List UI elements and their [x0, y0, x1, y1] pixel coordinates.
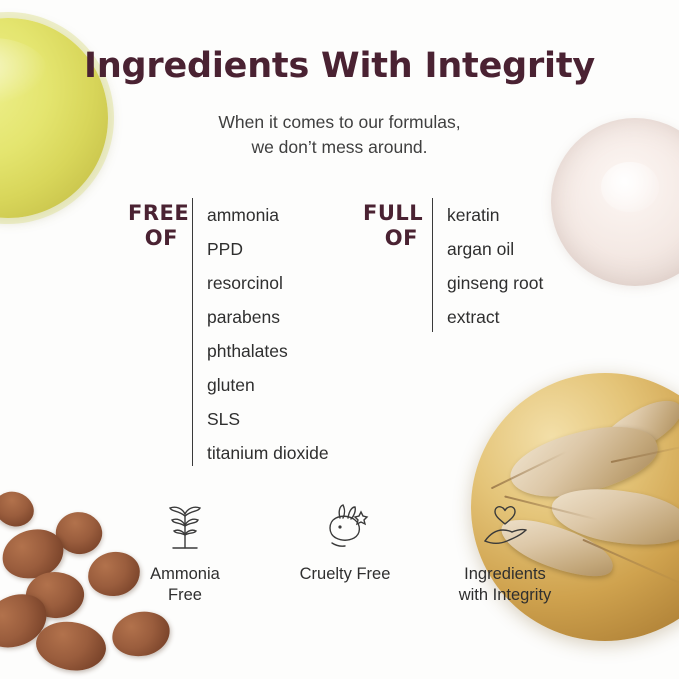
badge-caption-line-2: with Integrity	[430, 585, 580, 606]
plant-sprout-icon	[110, 494, 260, 556]
badge-caption-line-1: Ingredients	[430, 564, 580, 585]
full-of-list: keratin argan oil ginseng root extract	[447, 198, 543, 334]
badge-ingredients-with-integrity: Ingredients with Integrity	[430, 494, 580, 606]
list-item: keratin	[447, 198, 543, 232]
hand-heart-icon	[430, 494, 580, 556]
root-whisker	[611, 445, 679, 463]
free-of-label-line-2: OF	[128, 226, 178, 251]
badge-caption: Cruelty Free	[270, 564, 420, 585]
free-of-column: FREE OF ammonia PPD resorcinol parabens …	[128, 198, 329, 470]
badge-ammonia-free: Ammonia Free	[110, 494, 260, 606]
free-of-label-line-1: FREE	[128, 201, 178, 226]
list-item: argan oil	[447, 232, 543, 266]
argan-nut	[0, 485, 40, 534]
ginseng-root	[591, 390, 679, 467]
list-item: parabens	[207, 300, 329, 334]
full-of-label: FULL OF	[363, 198, 418, 251]
full-of-label-line-2: OF	[363, 226, 418, 251]
page-subtitle: When it comes to our formulas, we don’t …	[0, 110, 679, 160]
rabbit-cruelty-free-icon	[270, 494, 420, 556]
root-whisker	[491, 451, 567, 490]
list-item: extract	[447, 300, 543, 334]
list-item: resorcinol	[207, 266, 329, 300]
list-item: titanium dioxide	[207, 436, 329, 470]
product-ingredients-infographic: Ingredients With Integrity When it comes…	[0, 0, 679, 679]
full-of-label-line-1: FULL	[363, 201, 418, 226]
argan-nut	[0, 524, 68, 584]
free-of-list: ammonia PPD resorcinol parabens phthalat…	[207, 198, 329, 470]
list-item: ammonia	[207, 198, 329, 232]
page-title: Ingredients With Integrity	[0, 46, 679, 86]
list-item: gluten	[207, 368, 329, 402]
badge-row: Ammonia Free Cruelty Free	[110, 494, 580, 606]
list-item: phthalates	[207, 334, 329, 368]
subtitle-line-2: we don’t mess around.	[0, 135, 679, 160]
root-whisker	[583, 538, 679, 585]
badge-caption-line-1: Cruelty Free	[270, 564, 420, 585]
badge-caption-line-1: Ammonia	[110, 564, 260, 585]
argan-nut	[0, 585, 55, 656]
badge-caption: Ammonia Free	[110, 564, 260, 606]
full-of-column: FULL OF keratin argan oil ginseng root e…	[363, 198, 543, 334]
list-item: PPD	[207, 232, 329, 266]
free-of-label: FREE OF	[128, 198, 178, 251]
badge-caption: Ingredients with Integrity	[430, 564, 580, 606]
argan-nut	[32, 615, 110, 677]
argan-nut	[24, 569, 86, 621]
list-item: ginseng root	[447, 266, 543, 300]
column-divider	[432, 198, 433, 332]
argan-nut	[109, 608, 173, 660]
column-divider	[192, 198, 193, 466]
list-item: SLS	[207, 402, 329, 436]
argan-nut	[51, 506, 108, 560]
badge-caption-line-2: Free	[110, 585, 260, 606]
badge-cruelty-free: Cruelty Free	[270, 494, 420, 606]
subtitle-line-1: When it comes to our formulas,	[0, 110, 679, 135]
